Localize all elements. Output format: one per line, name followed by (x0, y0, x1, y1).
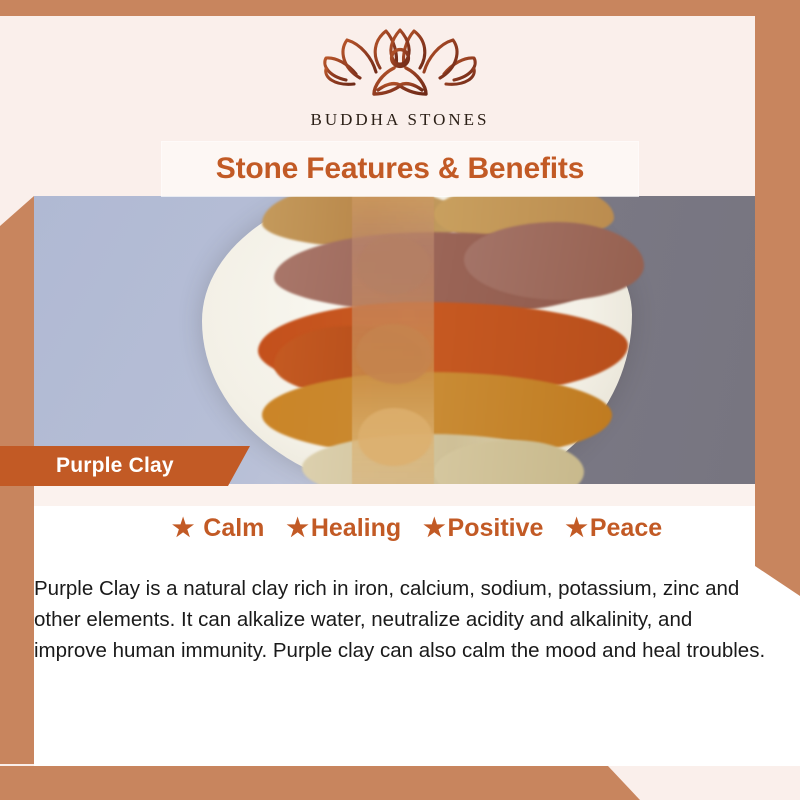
powder-smear-blob-1 (358, 236, 430, 294)
benefit-item-calm: ★ Calm (172, 514, 265, 543)
stone-name-label: Purple Clay (56, 454, 174, 478)
benefit-label: Peace (590, 514, 662, 543)
product-info-card: BUDDHA STONES Stone Features & Benefits … (0, 0, 800, 800)
benefit-label: Positive (448, 514, 544, 543)
product-photo (34, 196, 800, 484)
star-icon: ★ (286, 516, 308, 541)
brand-logo: BUDDHA STONES (0, 24, 800, 130)
stone-name-tab: Purple Clay (0, 446, 250, 486)
star-icon: ★ (565, 516, 587, 541)
description-text: Purple Clay is a natural clay rich in ir… (34, 573, 770, 666)
benefit-item-positive: ★ Positive (423, 514, 543, 543)
benefit-item-healing: ★ Healing (286, 514, 401, 543)
brand-name: BUDDHA STONES (0, 110, 800, 130)
benefit-label: Calm (203, 514, 264, 543)
benefits-list: ★ Calm ★ Healing ★ Positive ★ Peace (34, 508, 800, 548)
benefit-label: Healing (311, 514, 401, 543)
frame-bar-right (755, 0, 800, 596)
page-title: Stone Features & Benefits (216, 152, 584, 186)
frame-bar-top (0, 0, 800, 16)
title-banner: Stone Features & Benefits (162, 142, 638, 196)
star-icon: ★ (423, 516, 445, 541)
star-icon: ★ (172, 516, 194, 541)
white-divider-strip (34, 484, 800, 506)
frame-bar-bottom (0, 766, 640, 800)
lotus-meditation-icon (0, 24, 800, 106)
powder-smear-blob-2 (356, 324, 432, 384)
benefit-item-peace: ★ Peace (565, 514, 662, 543)
